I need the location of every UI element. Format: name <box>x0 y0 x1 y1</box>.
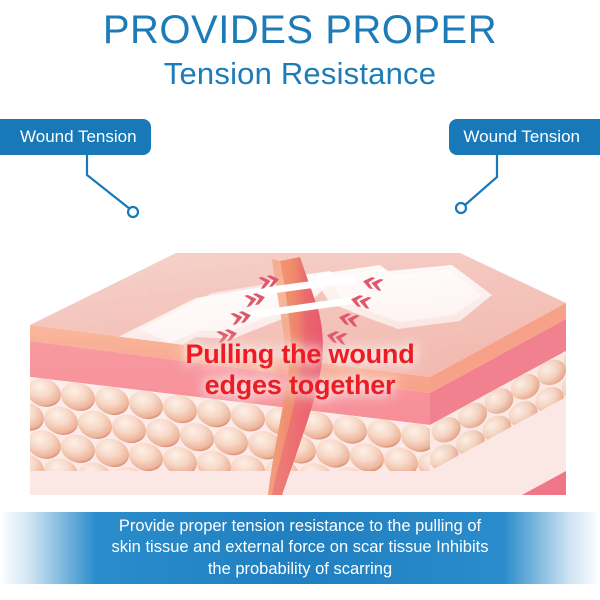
page-title: PROVIDES PROPER Tension Resistance <box>0 8 600 94</box>
wound-center-text-line2: edges together <box>0 370 600 401</box>
bottom-description-banner: Provide proper tension resistance to the… <box>0 512 600 584</box>
wound-center-text-line1: Pulling the wound <box>0 339 600 370</box>
leader-dot-left <box>128 207 138 217</box>
banner-text: Provide proper tension resistance to the… <box>90 516 511 581</box>
banner-line-1: Provide proper tension resistance to the… <box>112 516 489 538</box>
callout-wound-tension-left[interactable]: Wound Tension <box>0 119 151 155</box>
banner-line-2: skin tissue and external force on scar t… <box>112 537 489 559</box>
banner-line-3: the probability of scarring <box>112 559 489 581</box>
leader-dot-right <box>456 203 466 213</box>
callout-label-right: Wound Tension <box>463 127 580 146</box>
wound-center-text: Pulling the wound edges together <box>0 339 600 401</box>
title-main: PROVIDES PROPER <box>0 8 600 52</box>
poster-root: PROVIDES PROPER Tension Resistance <box>0 0 600 600</box>
callout-wound-tension-right[interactable]: Wound Tension <box>449 119 600 155</box>
callout-label-left: Wound Tension <box>20 127 137 146</box>
title-sub: Tension Resistance <box>0 54 600 94</box>
